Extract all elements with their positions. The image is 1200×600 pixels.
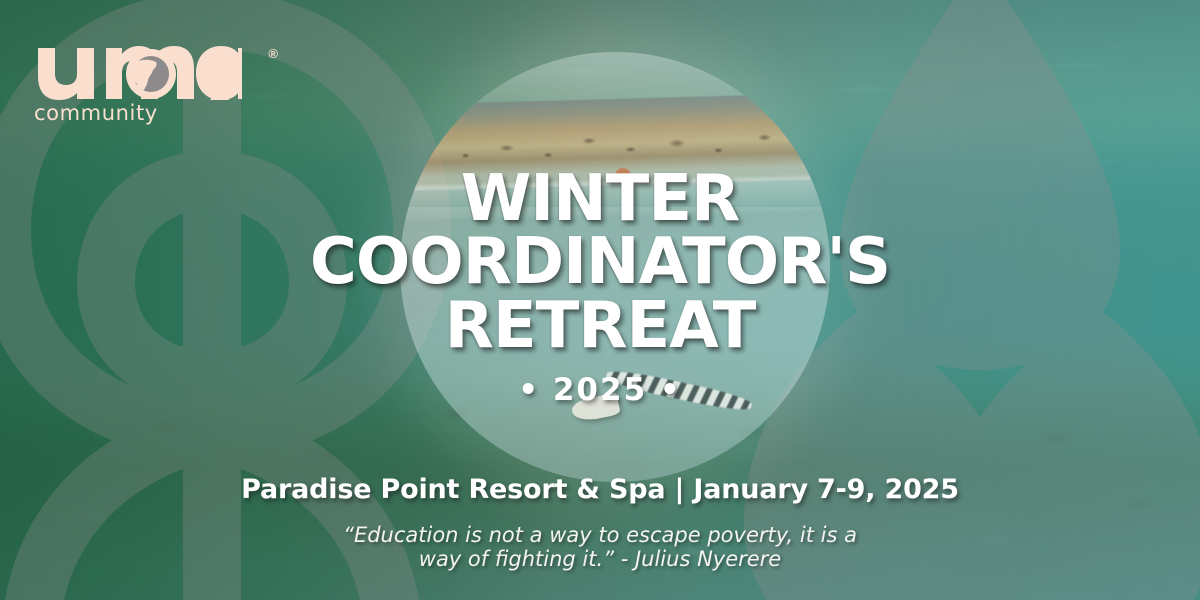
title-line-3: RETREAT: [0, 295, 1200, 358]
quote-line-2: way of fighting it.” - Julius Nyerere: [419, 547, 781, 571]
logo-wordmark: ®: [34, 38, 264, 105]
quote-block: “Education is not a way to escape povert…: [330, 524, 870, 572]
event-title-block: WINTER COORDINATOR'S RETREAT • 2025 •: [0, 168, 1200, 408]
africa-globe-icon: [126, 49, 176, 99]
registered-trademark: ®: [268, 46, 278, 61]
event-banner: ® community WINTER COORDINATOR'S RETREAT…: [0, 0, 1200, 600]
event-year: • 2025 •: [0, 372, 1200, 408]
title-line-1: WINTER: [0, 168, 1200, 231]
quote-line-1: “Education is not a way to escape povert…: [343, 523, 857, 547]
umoja-wordmark-icon: [34, 38, 264, 100]
umoja-logo[interactable]: ® community: [34, 38, 264, 125]
title-line-2: COORDINATOR'S: [0, 231, 1200, 294]
venue-and-date: Paradise Point Resort & Spa | January 7-…: [0, 474, 1200, 505]
